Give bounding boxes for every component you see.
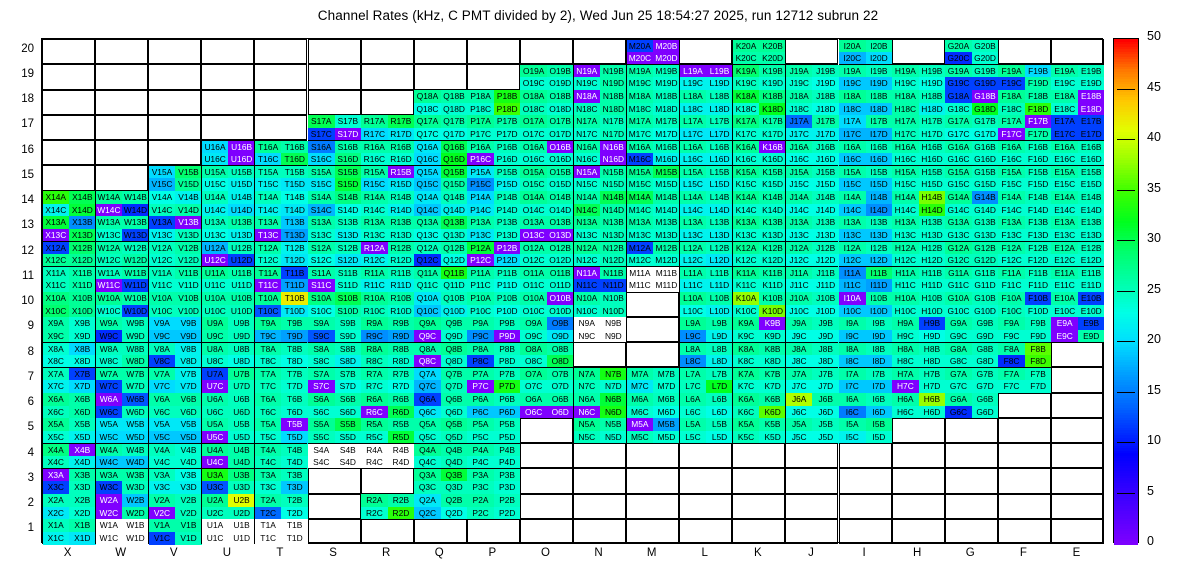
grid-cell-Q1[interactable]	[414, 519, 467, 544]
channel-W4A[interactable]: W4A	[96, 444, 123, 457]
channel-J10C[interactable]: J10C	[786, 305, 813, 318]
channel-P14A[interactable]: P14A	[467, 191, 494, 204]
channel-T8D[interactable]: T8D	[281, 355, 308, 368]
channel-O15C[interactable]: O15C	[520, 178, 547, 191]
channel-R17C[interactable]: R17C	[361, 128, 388, 141]
channel-X7B[interactable]: X7B	[69, 368, 96, 381]
channel-W5C[interactable]: W5C	[96, 431, 123, 444]
channel-P15A[interactable]: P15A	[467, 166, 494, 179]
channel-I11C[interactable]: I11C	[839, 279, 866, 292]
channel-J12C[interactable]: J12C	[786, 254, 813, 267]
grid-cell-G11[interactable]: G11AG11BG11CG11D	[945, 266, 998, 291]
grid-cell-O3[interactable]	[520, 468, 573, 493]
channel-U8A[interactable]: U8A	[202, 343, 229, 356]
channel-G10D[interactable]: G10D	[972, 305, 999, 318]
channel-K7D[interactable]: K7D	[759, 380, 786, 393]
channel-P3D[interactable]: P3D	[494, 481, 521, 494]
channel-T1D[interactable]: T1D	[281, 532, 308, 545]
channel-X2C[interactable]: X2C	[43, 507, 70, 520]
grid-cell-J17[interactable]: J17AJ17BJ17CJ17D	[785, 115, 838, 140]
channel-W7D[interactable]: W7D	[122, 380, 149, 393]
channel-O8D[interactable]: O8D	[547, 355, 574, 368]
channel-N5C[interactable]: N5C	[574, 431, 601, 444]
channel-W2A[interactable]: W2A	[96, 494, 123, 507]
grid-cell-R15[interactable]: R15AR15BR15CR15D	[361, 165, 414, 190]
grid-cell-G4[interactable]	[945, 443, 998, 468]
channel-O14C[interactable]: O14C	[520, 204, 547, 217]
grid-cell-L20[interactable]	[679, 39, 732, 64]
channel-J8B[interactable]: J8B	[812, 343, 839, 356]
channel-T11D[interactable]: T11D	[281, 279, 308, 292]
grid-cell-U13[interactable]: U13AU13BU13CU13D	[201, 216, 254, 241]
grid-cell-N4[interactable]	[573, 443, 626, 468]
channel-K5D[interactable]: K5D	[759, 431, 786, 444]
channel-X4C[interactable]: X4C	[43, 456, 70, 469]
grid-cell-T19[interactable]	[254, 64, 307, 89]
channel-V4D[interactable]: V4D	[175, 456, 202, 469]
grid-cell-R5[interactable]: R5AR5BR5CR5D	[361, 418, 414, 443]
channel-E19B[interactable]: E19B	[1078, 65, 1105, 78]
channel-X11D[interactable]: X11D	[69, 279, 96, 292]
channel-M6B[interactable]: M6B	[653, 393, 680, 406]
channel-R14C[interactable]: R14C	[361, 204, 388, 217]
channel-G7A[interactable]: G7A	[945, 368, 972, 381]
grid-cell-F7[interactable]: F7AF7BF7CF7D	[998, 367, 1051, 392]
channel-K8D[interactable]: K8D	[759, 355, 786, 368]
grid-cell-I16[interactable]: I16AI16BI16CI16D	[839, 140, 892, 165]
grid-cell-O20[interactable]	[520, 39, 573, 64]
channel-E19D[interactable]: E19D	[1078, 77, 1105, 90]
channel-U9B[interactable]: U9B	[228, 317, 255, 330]
grid-cell-G19[interactable]: G19AG19BG19CG19D	[945, 64, 998, 89]
grid-cell-X9[interactable]: X9AX9BX9CX9D	[42, 317, 95, 342]
grid-cell-O7[interactable]: O7AO7BO7CO7D	[520, 367, 573, 392]
grid-cell-F2[interactable]	[998, 494, 1051, 519]
channel-Q7B[interactable]: Q7B	[441, 368, 468, 381]
channel-M18D[interactable]: M18D	[653, 103, 680, 116]
channel-T12C[interactable]: T12C	[255, 254, 282, 267]
grid-cell-S8[interactable]: S8AS8BS8CS8D	[308, 342, 361, 367]
channel-T14C[interactable]: T14C	[255, 204, 282, 217]
channel-W7A[interactable]: W7A	[96, 368, 123, 381]
grid-cell-N7[interactable]: N7AN7BN7CN7D	[573, 367, 626, 392]
channel-P4B[interactable]: P4B	[494, 444, 521, 457]
channel-T13D[interactable]: T13D	[281, 229, 308, 242]
channel-E15D[interactable]: E15D	[1078, 178, 1105, 191]
grid-cell-M3[interactable]	[626, 468, 679, 493]
channel-T14B[interactable]: T14B	[281, 191, 308, 204]
channel-J17A[interactable]: J17A	[786, 115, 813, 128]
channel-F15A[interactable]: F15A	[998, 166, 1025, 179]
channel-N6B[interactable]: N6B	[600, 393, 627, 406]
grid-cell-H10[interactable]: H10AH10BH10CH10D	[892, 292, 945, 317]
channel-S6C[interactable]: S6C	[308, 406, 335, 419]
grid-cell-R8[interactable]: R8AR8BR8CR8D	[361, 342, 414, 367]
channel-T1A[interactable]: T1A	[255, 519, 282, 532]
channel-H16D[interactable]: H16D	[919, 153, 946, 166]
channel-R15D[interactable]: R15D	[388, 178, 415, 191]
grid-cell-F9[interactable]: F9AF9BF9CF9D	[998, 317, 1051, 342]
channel-N6A[interactable]: N6A	[574, 393, 601, 406]
channel-R2C[interactable]: R2C	[361, 507, 388, 520]
grid-cell-I15[interactable]: I15AI15BI15CI15D	[839, 165, 892, 190]
channel-N14C[interactable]: N14C	[574, 204, 601, 217]
channel-I17A[interactable]: I17A	[839, 115, 866, 128]
channel-V9B[interactable]: V9B	[175, 317, 202, 330]
channel-W12A[interactable]: W12A	[96, 242, 123, 255]
grid-cell-N5[interactable]: N5AN5BN5CN5D	[573, 418, 626, 443]
grid-cell-Q11[interactable]: Q11AQ11BQ11CQ11D	[414, 266, 467, 291]
grid-cell-W17[interactable]	[95, 115, 148, 140]
grid-cell-H19[interactable]: H19AH19BH19CH19D	[892, 64, 945, 89]
channel-I17B[interactable]: I17B	[866, 115, 893, 128]
channel-S11A[interactable]: S11A	[308, 267, 335, 280]
channel-Q2D[interactable]: Q2D	[441, 507, 468, 520]
channel-T15C[interactable]: T15C	[255, 178, 282, 191]
channel-H15A[interactable]: H15A	[892, 166, 919, 179]
channel-L10B[interactable]: L10B	[706, 292, 733, 305]
channel-T12B[interactable]: T12B	[281, 242, 308, 255]
grid-cell-R1[interactable]	[361, 519, 414, 544]
channel-L14A[interactable]: L14A	[680, 191, 707, 204]
channel-M19A[interactable]: M19A	[627, 65, 654, 78]
channel-J8A[interactable]: J8A	[786, 343, 813, 356]
grid-cell-L15[interactable]: L15AL15BL15CL15D	[679, 165, 732, 190]
grid-cell-P8[interactable]: P8AP8BP8CP8D	[467, 342, 520, 367]
channel-J12A[interactable]: J12A	[786, 242, 813, 255]
channel-V10D[interactable]: V10D	[175, 305, 202, 318]
channel-N16C[interactable]: N16C	[574, 153, 601, 166]
channel-I6C[interactable]: I6C	[839, 406, 866, 419]
grid-cell-Q7[interactable]: Q7AQ7BQ7CQ7D	[414, 367, 467, 392]
grid-cell-T2[interactable]: T2AT2BT2CT2D	[254, 494, 307, 519]
channel-L8A[interactable]: L8A	[680, 343, 707, 356]
grid-cell-K15[interactable]: K15AK15BK15CK15D	[732, 165, 785, 190]
channel-K7B[interactable]: K7B	[759, 368, 786, 381]
channel-J13D[interactable]: J13D	[812, 229, 839, 242]
channel-K11D[interactable]: K11D	[759, 279, 786, 292]
channel-W4D[interactable]: W4D	[122, 456, 149, 469]
channel-T16B[interactable]: T16B	[281, 141, 308, 154]
channel-U7B[interactable]: U7B	[228, 368, 255, 381]
grid-cell-W11[interactable]: W11AW11BW11CW11D	[95, 266, 148, 291]
grid-cell-M11[interactable]: M11AM11BM11CM11D	[626, 266, 679, 291]
channel-F10D[interactable]: F10D	[1025, 305, 1052, 318]
channel-H7A[interactable]: H7A	[892, 368, 919, 381]
channel-Q3A[interactable]: Q3A	[414, 469, 441, 482]
channel-K14C[interactable]: K14C	[733, 204, 760, 217]
channel-Q2B[interactable]: Q2B	[441, 494, 468, 507]
channel-T2D[interactable]: T2D	[281, 507, 308, 520]
channel-W9B[interactable]: W9B	[122, 317, 149, 330]
channel-F7D[interactable]: F7D	[1025, 380, 1052, 393]
channel-V14C[interactable]: V14C	[149, 204, 176, 217]
channel-O19C[interactable]: O19C	[520, 77, 547, 90]
channel-Q12D[interactable]: Q12D	[441, 254, 468, 267]
channel-K15D[interactable]: K15D	[759, 178, 786, 191]
grid-cell-P4[interactable]: P4AP4BP4CP4D	[467, 443, 520, 468]
grid-cell-T9[interactable]: T9AT9BT9CT9D	[254, 317, 307, 342]
channel-U6D[interactable]: U6D	[228, 406, 255, 419]
grid-cell-F19[interactable]: F19AF19BF19CF19D	[998, 64, 1051, 89]
grid-cell-E19[interactable]: E19AE19BE19CE19D	[1051, 64, 1104, 89]
grid-cell-R13[interactable]: R13AR13BR13CR13D	[361, 216, 414, 241]
channel-S12B[interactable]: S12B	[335, 242, 362, 255]
channel-G12C[interactable]: G12C	[945, 254, 972, 267]
channel-J16B[interactable]: J16B	[812, 141, 839, 154]
grid-cell-X6[interactable]: X6AX6BX6CX6D	[42, 393, 95, 418]
channel-G6D[interactable]: G6D	[972, 406, 999, 419]
channel-H10A[interactable]: H10A	[892, 292, 919, 305]
channel-S5C[interactable]: S5C	[308, 431, 335, 444]
channel-S14C[interactable]: S14C	[308, 204, 335, 217]
channel-F17C[interactable]: F17C	[998, 128, 1025, 141]
grid-cell-M17[interactable]: M17AM17BM17CM17D	[626, 115, 679, 140]
channel-K19B[interactable]: K19B	[759, 65, 786, 78]
channel-L18D[interactable]: L18D	[706, 103, 733, 116]
grid-cell-K11[interactable]: K11AK11BK11CK11D	[732, 266, 785, 291]
channel-N19C[interactable]: N19C	[574, 77, 601, 90]
channel-I13C[interactable]: I13C	[839, 229, 866, 242]
channel-R14A[interactable]: R14A	[361, 191, 388, 204]
channel-E15A[interactable]: E15A	[1051, 166, 1078, 179]
channel-K13B[interactable]: K13B	[759, 216, 786, 229]
channel-R2B[interactable]: R2B	[388, 494, 415, 507]
channel-J13C[interactable]: J13C	[786, 229, 813, 242]
channel-O11C[interactable]: O11C	[520, 279, 547, 292]
channel-V6B[interactable]: V6B	[175, 393, 202, 406]
channel-M11C[interactable]: M11C	[627, 279, 654, 292]
channel-U7C[interactable]: U7C	[202, 380, 229, 393]
grid-cell-I5[interactable]: I5AI5BI5CI5D	[839, 418, 892, 443]
grid-cell-M8[interactable]	[626, 342, 679, 367]
channel-H9D[interactable]: H9D	[919, 330, 946, 343]
channel-G7B[interactable]: G7B	[972, 368, 999, 381]
grid-cell-E6[interactable]	[1051, 393, 1104, 418]
channel-S15B[interactable]: S15B	[335, 166, 362, 179]
grid-cell-N10[interactable]: N10AN10BN10CN10D	[573, 292, 626, 317]
channel-W13A[interactable]: W13A	[96, 216, 123, 229]
channel-J14A[interactable]: J14A	[786, 191, 813, 204]
channel-W1B[interactable]: W1B	[122, 519, 149, 532]
channel-I19A[interactable]: I19A	[839, 65, 866, 78]
grid-cell-R18[interactable]	[361, 90, 414, 115]
channel-S12D[interactable]: S12D	[335, 254, 362, 267]
channel-T7A[interactable]: T7A	[255, 368, 282, 381]
grid-cell-J11[interactable]: J11AJ11BJ11CJ11D	[785, 266, 838, 291]
channel-G9A[interactable]: G9A	[945, 317, 972, 330]
channel-J15A[interactable]: J15A	[786, 166, 813, 179]
channel-P6B[interactable]: P6B	[494, 393, 521, 406]
channel-M20C[interactable]: M20C	[627, 52, 654, 65]
channel-X11B[interactable]: X11B	[69, 267, 96, 280]
channel-W11A[interactable]: W11A	[96, 267, 123, 280]
channel-F7B[interactable]: F7B	[1025, 368, 1052, 381]
channel-O12B[interactable]: O12B	[547, 242, 574, 255]
channel-H11D[interactable]: H11D	[919, 279, 946, 292]
grid-cell-T15[interactable]: T15AT15BT15CT15D	[254, 165, 307, 190]
channel-U3D[interactable]: U3D	[228, 481, 255, 494]
grid-cell-P7[interactable]: P7AP7BP7CP7D	[467, 367, 520, 392]
channel-V8D[interactable]: V8D	[175, 355, 202, 368]
channel-I16D[interactable]: I16D	[866, 153, 893, 166]
channel-F16C[interactable]: F16C	[998, 153, 1025, 166]
grid-cell-O10[interactable]: O10AO10BO10CO10D	[520, 292, 573, 317]
channel-M14C[interactable]: M14C	[627, 204, 654, 217]
channel-L10D[interactable]: L10D	[706, 305, 733, 318]
channel-X6A[interactable]: X6A	[43, 393, 70, 406]
channel-L15A[interactable]: L15A	[680, 166, 707, 179]
channel-T2C[interactable]: T2C	[255, 507, 282, 520]
grid-cell-V4[interactable]: V4AV4BV4CV4D	[148, 443, 201, 468]
channel-T8A[interactable]: T8A	[255, 343, 282, 356]
grid-cell-E2[interactable]	[1051, 494, 1104, 519]
channel-F17B[interactable]: F17B	[1025, 115, 1052, 128]
channel-L8C[interactable]: L8C	[680, 355, 707, 368]
grid-cell-J9[interactable]: J9AJ9BJ9CJ9D	[785, 317, 838, 342]
channel-Q18C[interactable]: Q18C	[414, 103, 441, 116]
channel-E17C[interactable]: E17C	[1051, 128, 1078, 141]
channel-R12C[interactable]: R12C	[361, 254, 388, 267]
channel-G6C[interactable]: G6C	[945, 406, 972, 419]
channel-G20D[interactable]: G20D	[972, 52, 999, 65]
channel-X8C[interactable]: X8C	[43, 355, 70, 368]
channel-K16D[interactable]: K16D	[759, 153, 786, 166]
channel-I19D[interactable]: I19D	[866, 77, 893, 90]
channel-O6D[interactable]: O6D	[547, 406, 574, 419]
channel-W13D[interactable]: W13D	[122, 229, 149, 242]
grid-cell-S17[interactable]: S17AS17BS17CS17D	[308, 115, 361, 140]
channel-U4B[interactable]: U4B	[228, 444, 255, 457]
grid-cell-H1[interactable]	[892, 519, 945, 544]
channel-F19C[interactable]: F19C	[998, 77, 1025, 90]
channel-T5B[interactable]: T5B	[281, 418, 308, 431]
channel-R17A[interactable]: R17A	[361, 115, 388, 128]
channel-E15B[interactable]: E15B	[1078, 166, 1105, 179]
channel-Q9C[interactable]: Q9C	[414, 330, 441, 343]
channel-K11C[interactable]: K11C	[733, 279, 760, 292]
channel-F15D[interactable]: F15D	[1025, 178, 1052, 191]
grid-cell-J1[interactable]	[785, 519, 838, 544]
grid-cell-U6[interactable]: U6AU6BU6CU6D	[201, 393, 254, 418]
channel-S9C[interactable]: S9C	[308, 330, 335, 343]
channel-F18A[interactable]: F18A	[998, 90, 1025, 103]
grid-cell-R12[interactable]: R12AR12BR12CR12D	[361, 241, 414, 266]
channel-O17D[interactable]: O17D	[547, 128, 574, 141]
grid-cell-W4[interactable]: W4AW4BW4CW4D	[95, 443, 148, 468]
channel-E9A[interactable]: E9A	[1051, 317, 1078, 330]
channel-M20D[interactable]: M20D	[653, 52, 680, 65]
channel-I11A[interactable]: I11A	[839, 267, 866, 280]
channel-R5A[interactable]: R5A	[361, 418, 388, 431]
grid-cell-I20[interactable]: I20AI20BI20CI20D	[839, 39, 892, 64]
grid-cell-R2[interactable]: R2AR2BR2CR2D	[361, 494, 414, 519]
channel-N10A[interactable]: N10A	[574, 292, 601, 305]
channel-W6D[interactable]: W6D	[122, 406, 149, 419]
grid-cell-I14[interactable]: I14AI14BI14CI14D	[839, 191, 892, 216]
channel-J7A[interactable]: J7A	[786, 368, 813, 381]
channel-K20C[interactable]: K20C	[733, 52, 760, 65]
channel-R4C[interactable]: R4C	[361, 456, 388, 469]
channel-V5C[interactable]: V5C	[149, 431, 176, 444]
channel-N7C[interactable]: N7C	[574, 380, 601, 393]
channel-L18C[interactable]: L18C	[680, 103, 707, 116]
channel-J9A[interactable]: J9A	[786, 317, 813, 330]
channel-N15D[interactable]: N15D	[600, 178, 627, 191]
channel-Q4A[interactable]: Q4A	[414, 444, 441, 457]
grid-cell-I19[interactable]: I19AI19BI19CI19D	[839, 64, 892, 89]
grid-cell-W10[interactable]: W10AW10BW10CW10D	[95, 292, 148, 317]
channel-P10A[interactable]: P10A	[467, 292, 494, 305]
channel-S4B[interactable]: S4B	[335, 444, 362, 457]
channel-O18D[interactable]: O18D	[547, 103, 574, 116]
channel-Q5B[interactable]: Q5B	[441, 418, 468, 431]
channel-Q7A[interactable]: Q7A	[414, 368, 441, 381]
channel-R6A[interactable]: R6A	[361, 393, 388, 406]
channel-W12C[interactable]: W12C	[96, 254, 123, 267]
channel-J15B[interactable]: J15B	[812, 166, 839, 179]
grid-cell-F20[interactable]	[998, 39, 1051, 64]
channel-I7A[interactable]: I7A	[839, 368, 866, 381]
channel-I17C[interactable]: I17C	[839, 128, 866, 141]
channel-P13C[interactable]: P13C	[467, 229, 494, 242]
channel-R15C[interactable]: R15C	[361, 178, 388, 191]
channel-H18A[interactable]: H18A	[892, 90, 919, 103]
channel-I19B[interactable]: I19B	[866, 65, 893, 78]
grid-cell-T18[interactable]	[254, 90, 307, 115]
grid-cell-G15[interactable]: G15AG15BG15CG15D	[945, 165, 998, 190]
channel-F11A[interactable]: F11A	[998, 267, 1025, 280]
grid-cell-R20[interactable]	[361, 39, 414, 64]
channel-Q5A[interactable]: Q5A	[414, 418, 441, 431]
channel-N15B[interactable]: N15B	[600, 166, 627, 179]
channel-Q17C[interactable]: Q17C	[414, 128, 441, 141]
channel-U10D[interactable]: U10D	[228, 305, 255, 318]
channel-L6C[interactable]: L6C	[680, 406, 707, 419]
channel-X14B[interactable]: X14B	[69, 191, 96, 204]
channel-R5C[interactable]: R5C	[361, 431, 388, 444]
channel-O15B[interactable]: O15B	[547, 166, 574, 179]
channel-S11C[interactable]: S11C	[308, 279, 335, 292]
channel-I7C[interactable]: I7C	[839, 380, 866, 393]
grid-cell-J3[interactable]	[785, 468, 838, 493]
channel-P5D[interactable]: P5D	[494, 431, 521, 444]
channel-H10C[interactable]: H10C	[892, 305, 919, 318]
channel-Q15C[interactable]: Q15C	[414, 178, 441, 191]
grid-cell-O11[interactable]: O11AO11BO11CO11D	[520, 266, 573, 291]
grid-cell-P2[interactable]: P2AP2BP2CP2D	[467, 494, 520, 519]
channel-N19A[interactable]: N19A	[574, 65, 601, 78]
channel-G9B[interactable]: G9B	[972, 317, 999, 330]
grid-cell-W8[interactable]: W8AW8BW8CW8D	[95, 342, 148, 367]
grid-cell-P5[interactable]: P5AP5BP5CP5D	[467, 418, 520, 443]
channel-G20B[interactable]: G20B	[972, 40, 999, 53]
channel-F9B[interactable]: F9B	[1025, 317, 1052, 330]
channel-U10C[interactable]: U10C	[202, 305, 229, 318]
channel-Q14A[interactable]: Q14A	[414, 191, 441, 204]
grid-cell-G9[interactable]: G9AG9BG9CG9D	[945, 317, 998, 342]
channel-K18A[interactable]: K18A	[733, 90, 760, 103]
grid-cell-P1[interactable]	[467, 519, 520, 544]
channel-H14A[interactable]: H14A	[892, 191, 919, 204]
channel-F11D[interactable]: F11D	[1025, 279, 1052, 292]
channel-E16A[interactable]: E16A	[1051, 141, 1078, 154]
channel-Q5D[interactable]: Q5D	[441, 431, 468, 444]
grid-cell-I3[interactable]	[839, 468, 892, 493]
grid-cell-N20[interactable]	[573, 39, 626, 64]
channel-J5B[interactable]: J5B	[812, 418, 839, 431]
channel-G13C[interactable]: G13C	[945, 229, 972, 242]
